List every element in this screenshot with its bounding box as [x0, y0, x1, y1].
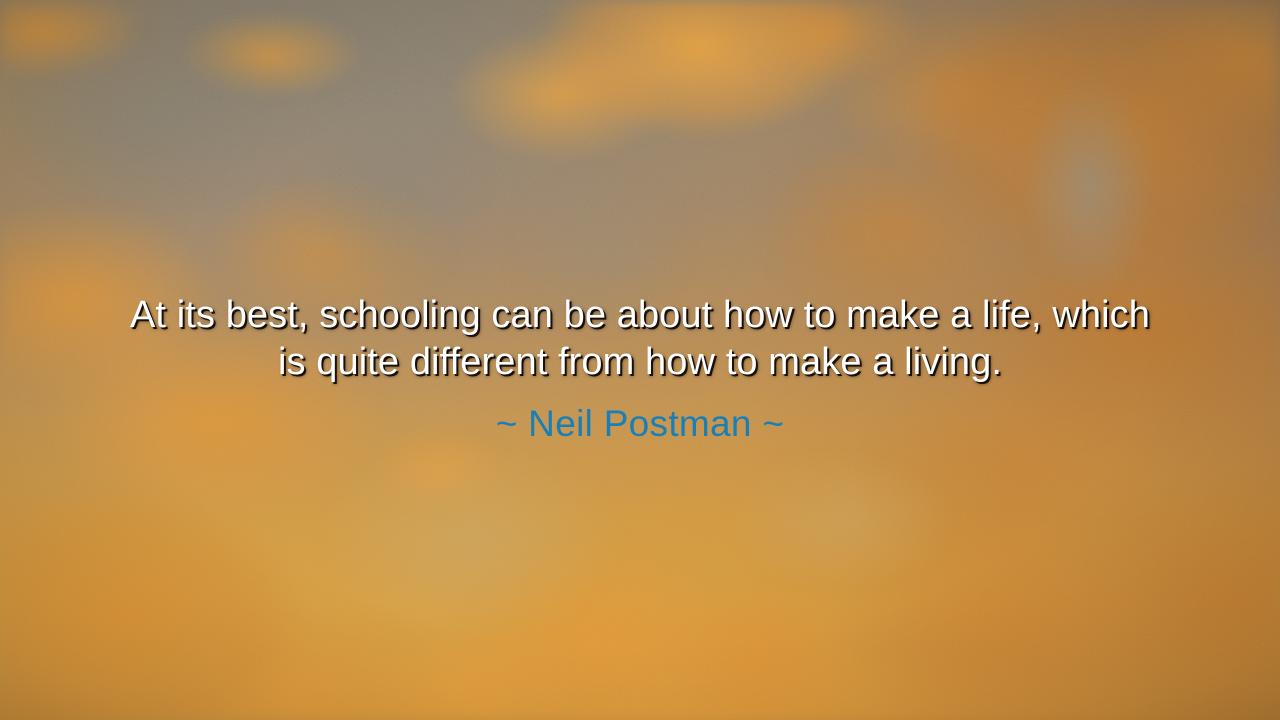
quote-attribution: ~ Neil Postman ~: [60, 402, 1220, 446]
quote-body: At its best, schooling can be about how …: [60, 292, 1220, 386]
quote-text-block: At its best, schooling can be about how …: [0, 292, 1280, 446]
quote-slide: At its best, schooling can be about how …: [0, 0, 1280, 720]
